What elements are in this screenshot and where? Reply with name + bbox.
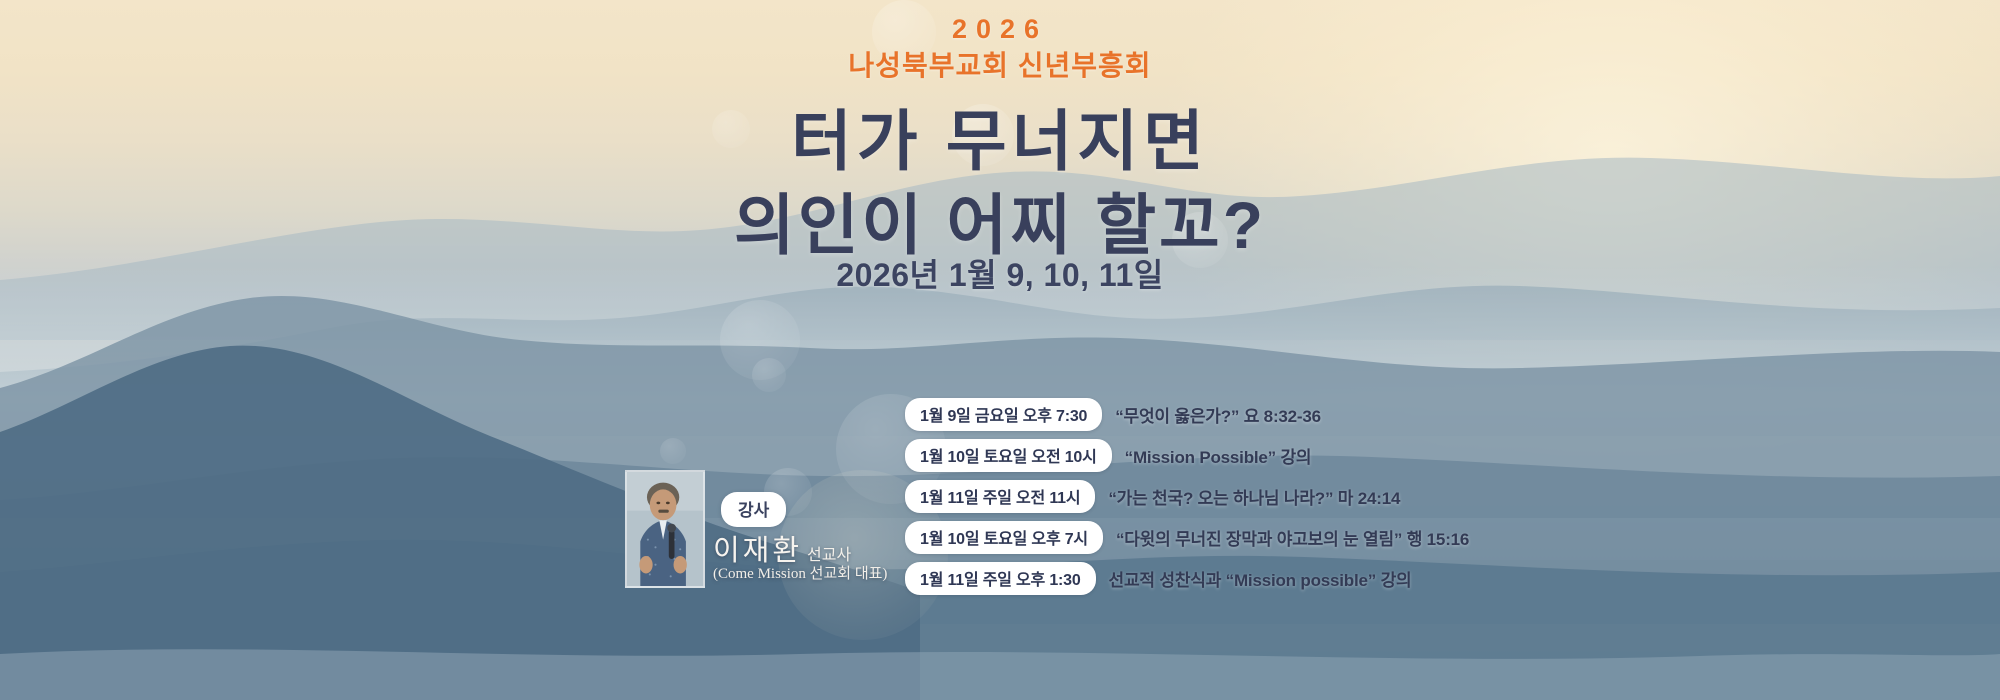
speaker-badge: 강사	[721, 492, 786, 527]
schedule-topic: “가는 천국? 오는 하나님 나라?” 마 24:14	[1108, 484, 1400, 509]
event-kicker: 2026 나성북부교회 신년부흥회	[0, 14, 2000, 82]
schedule-topic: “다윗의 무너진 장막과 야고보의 눈 열림” 행 15:16	[1116, 525, 1469, 550]
speaker-photo	[625, 470, 705, 588]
schedule-row: 1월 11일 주일 오전 11시 “가는 천국? 오는 하나님 나라?” 마 2…	[905, 480, 1469, 513]
revival-meeting-banner: 2026 나성북부교회 신년부흥회 터가 무너지면 의인이 어찌 할꼬? 202…	[0, 0, 2000, 700]
schedule-time-pill: 1월 11일 주일 오전 11시	[905, 480, 1095, 513]
schedule-time-pill: 1월 10일 토요일 오후 7시	[905, 521, 1103, 554]
schedule-row: 1월 9일 금요일 오후 7:30 “무엇이 옳은가?” 요 8:32-36	[905, 398, 1469, 431]
schedule-topic: “무엇이 옳은가?” 요 8:32-36	[1115, 402, 1321, 427]
title-line-1: 터가 무너지면	[0, 100, 2000, 184]
schedule-row: 1월 10일 토요일 오전 10시 “Mission Possible” 강의	[905, 439, 1469, 472]
speaker-organization: (Come Mission 선교회 대표)	[713, 562, 887, 583]
event-dates: 2026년 1월 9, 10, 11일	[0, 250, 2000, 296]
schedule-list: 1월 9일 금요일 오후 7:30 “무엇이 옳은가?” 요 8:32-36 1…	[905, 398, 1469, 595]
schedule-row: 1월 11일 주일 오후 1:30 선교적 성찬식과 “Mission poss…	[905, 562, 1469, 595]
schedule-row: 1월 10일 토요일 오후 7시 “다윗의 무너진 장막과 야고보의 눈 열림”…	[905, 521, 1469, 554]
speaker-block: 강사 이재환선교사 (Come Mission 선교회 대표)	[625, 470, 945, 620]
schedule-time-pill: 1월 10일 토요일 오전 10시	[905, 439, 1112, 472]
event-organization: 나성북부교회 신년부흥회	[0, 49, 2000, 82]
schedule-time-pill: 1월 9일 금요일 오후 7:30	[905, 398, 1102, 431]
schedule-time-pill: 1월 11일 주일 오후 1:30	[905, 562, 1096, 595]
schedule-topic: 선교적 성찬식과 “Mission possible” 강의	[1109, 566, 1412, 591]
event-title: 터가 무너지면 의인이 어찌 할꼬?	[0, 100, 2000, 268]
schedule-topic: “Mission Possible” 강의	[1125, 443, 1312, 468]
event-year: 2026	[0, 14, 2000, 46]
